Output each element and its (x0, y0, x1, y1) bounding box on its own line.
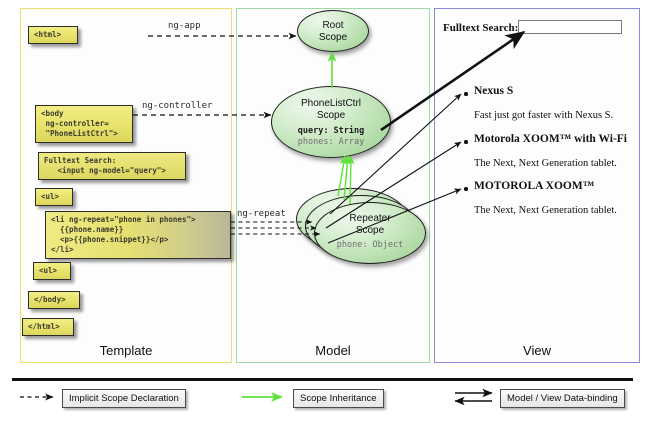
li-ngrepeat-box: <li ng-repeat="phone in phones"> {{phone… (45, 211, 231, 259)
ul-close-box: <ul> (33, 262, 71, 280)
body-controller-box: <body ng-controller= "PhoneListCtrl"> (35, 105, 133, 143)
body-close-box: </body> (28, 291, 80, 309)
ul-open-box: <ul> (35, 188, 73, 206)
html-open-box: <html> (28, 26, 78, 44)
diagram-canvas: Template Model View (0, 0, 645, 425)
html-close-box: </html> (22, 318, 74, 336)
fulltext-search-box: Fulltext Search: <input ng-model="query"… (38, 152, 186, 180)
